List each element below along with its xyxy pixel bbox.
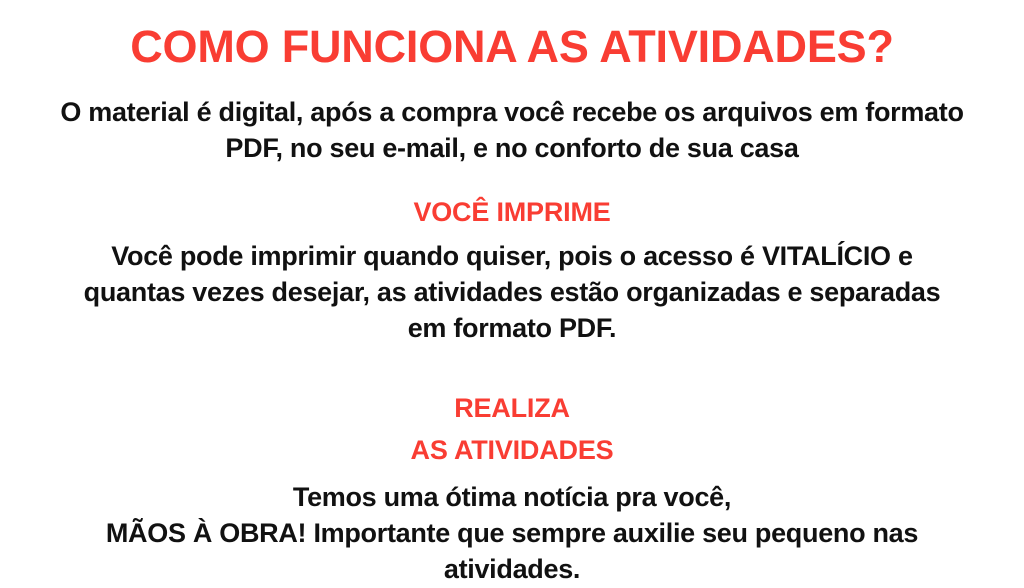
section-heading-as-atividades: AS ATIVIDADES [0,433,1024,468]
intro-paragraph-line-1: O material é digital, após a compra você… [14,95,1010,131]
section-heading-voce-imprime: VOCÊ IMPRIME [0,195,1024,230]
section-realiza-paragraph: Temos uma ótima notícia pra você, MÃOS À… [0,480,1024,588]
section-imprime-line-3: em formato PDF. [10,311,1014,347]
intro-paragraph: O material é digital, após a compra você… [0,95,1024,167]
section-realiza-line-2: MÃOS À OBRA! Importante que sempre auxil… [12,516,1012,552]
page-title: COMO FUNCIONA AS ATIVIDADES? [0,24,1024,69]
section-realiza-block: REALIZA AS ATIVIDADES Temos uma ótima no… [0,391,1024,588]
section-heading-realiza: REALIZA [0,391,1024,426]
promo-poster: COMO FUNCIONA AS ATIVIDADES? O material … [0,0,1024,576]
section-realiza-line-1: Temos uma ótima notícia pra você, [12,480,1012,516]
section-imprime-paragraph: Você pode imprimir quando quiser, pois o… [0,239,1024,347]
section-imprime-line-2: quantas vezes desejar, as atividades est… [10,275,1014,311]
section-imprime-line-1: Você pode imprimir quando quiser, pois o… [10,239,1014,275]
intro-paragraph-line-2: PDF, no seu e-mail, e no conforto de sua… [14,131,1010,167]
section-realiza-line-3: atividades. [12,552,1012,588]
